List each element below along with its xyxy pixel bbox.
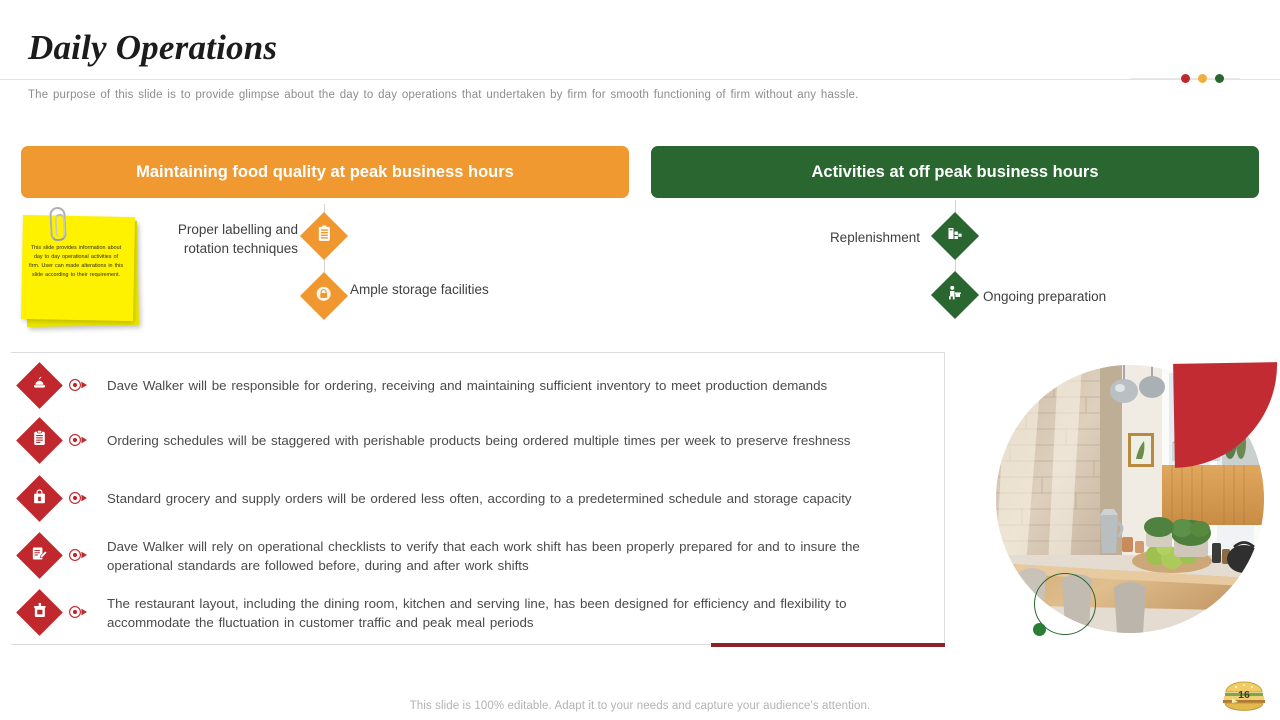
paperclip-icon xyxy=(49,207,67,242)
hand-food-icon xyxy=(32,376,47,395)
offpeak-item-1-diamond xyxy=(931,271,979,319)
offpeak-item-0-label: Replenishment xyxy=(760,228,920,247)
peak-item-0-diamond xyxy=(300,212,348,260)
decorative-dots xyxy=(1181,74,1224,83)
bullet-3-text: Dave Walker will rely on operational che… xyxy=(107,538,919,576)
bullet-0-text: Dave Walker will be responsible for orde… xyxy=(107,377,967,396)
bullet-1-text: Ordering schedules will be staggered wit… xyxy=(107,432,987,451)
dot-green-icon xyxy=(1215,74,1224,83)
header-divider xyxy=(0,79,1280,80)
page-subtitle: The purpose of this slide is to provide … xyxy=(28,89,1028,101)
worker-prep-icon xyxy=(947,285,963,306)
slide: Daily Operations The purpose of this sli… xyxy=(0,0,1280,720)
clipboard-list-icon xyxy=(33,430,46,451)
bullet-0-marker xyxy=(68,378,90,392)
dot-orange-icon xyxy=(1198,74,1207,83)
page-number: 16 xyxy=(1220,689,1268,701)
banner-peak-hours: Maintaining food quality at peak busines… xyxy=(21,146,629,198)
stock-boxes-icon xyxy=(947,226,963,246)
burger-icon: 16 xyxy=(1220,678,1268,712)
bullet-3-marker xyxy=(68,548,90,562)
padlock-icon xyxy=(316,286,332,307)
offpeak-item-0-diamond xyxy=(931,212,979,260)
peak-item-1-label: Ample storage facilities xyxy=(350,280,530,299)
sticky-note-text: This slide provides information about da… xyxy=(28,244,124,280)
banner-peak-hours-label: Maintaining food quality at peak busines… xyxy=(136,161,514,184)
bullet-4-text: The restaurant layout, including the din… xyxy=(107,595,897,633)
offpeak-item-1-label: Ongoing preparation xyxy=(983,287,1183,306)
document-list-icon xyxy=(317,225,332,247)
peak-item-1-diamond xyxy=(300,272,348,320)
sticky-note: This slide provides information about da… xyxy=(20,216,142,328)
bullet-4-marker xyxy=(68,605,90,619)
bullet-2-marker xyxy=(68,491,90,505)
grocery-bag-icon xyxy=(33,489,47,509)
food-container-icon xyxy=(33,602,47,623)
checklist-edit-icon xyxy=(32,546,47,566)
banner-off-peak-hours: Activities at off peak business hours xyxy=(651,146,1259,198)
page-title: Daily Operations xyxy=(28,28,277,68)
dot-red-icon xyxy=(1181,74,1190,83)
bullet-2-text: Standard grocery and supply orders will … xyxy=(107,490,992,509)
banner-off-peak-hours-label: Activities at off peak business hours xyxy=(812,161,1099,184)
footer-note: This slide is 100% editable. Adapt it to… xyxy=(0,700,1280,712)
peak-item-0-label: Proper labelling and rotation techniques xyxy=(150,220,298,258)
bullet-1-marker xyxy=(68,433,90,447)
bullets-panel-accent-bar xyxy=(711,643,945,647)
green-dot-decor xyxy=(1033,623,1046,636)
